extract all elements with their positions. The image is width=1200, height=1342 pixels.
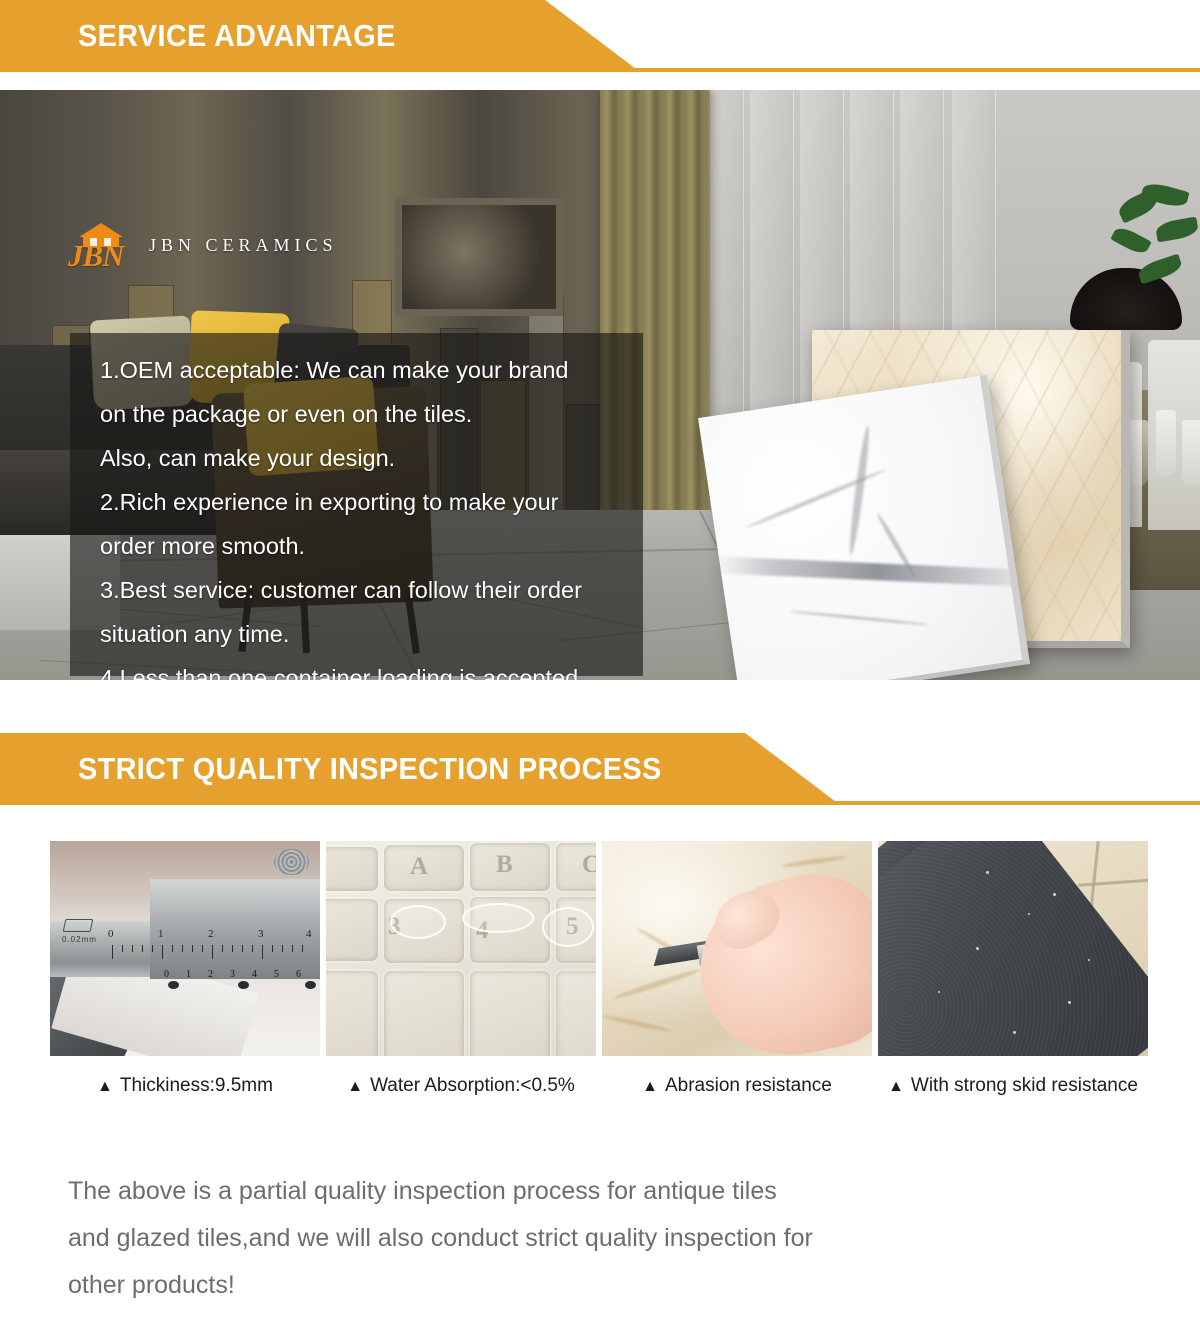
wall-art-canvas <box>402 205 556 309</box>
inspection-item: 0.02mm <box>50 841 320 1097</box>
footer-line: The above is a partial quality inspectio… <box>68 1168 1088 1215</box>
footer-line: other products! <box>68 1262 1088 1309</box>
inspection-item: ▲With strong skid resistance <box>878 841 1148 1097</box>
triangle-marker-icon: ▲ <box>347 1078 363 1095</box>
feature-line: 1.OEM acceptable: We can make your brand <box>100 348 660 392</box>
section-title-strict-quality-inspection: STRICT QUALITY INSPECTION PROCESS <box>78 733 662 805</box>
tile-speck <box>976 947 979 950</box>
caliper-thickness-image: 0.02mm <box>50 841 320 1056</box>
wine-glass <box>1182 420 1200 486</box>
logo-jbn-text: JBN <box>68 238 124 274</box>
tile-speck <box>938 991 940 993</box>
service-advantage-banner: SERVICE ADVANTAGE <box>0 0 1200 90</box>
inspection-caption: ▲Thickiness:9.5mm <box>50 1075 320 1097</box>
caliper-screw <box>305 981 316 989</box>
marble-vein <box>712 556 1029 587</box>
triangle-marker-icon: ▲ <box>888 1078 904 1095</box>
abrasion-resistance-image <box>602 841 872 1056</box>
inspection-caption: ▲Water Absorption:<0.5% <box>326 1075 596 1097</box>
caliper-vernier-number: 0 <box>164 969 169 980</box>
inspection-item: ▲Abrasion resistance <box>602 841 872 1097</box>
water-droplet <box>542 907 594 947</box>
embossed-character: A <box>410 853 428 881</box>
embossed-character: C <box>582 851 596 879</box>
banner-bar-1: SERVICE ADVANTAGE <box>0 0 1200 72</box>
feature-line: on the package or even on the tiles. <box>100 392 660 436</box>
caliper-precision-label: 0.02mm <box>62 935 97 944</box>
triangle-marker-icon: ▲ <box>97 1078 113 1095</box>
wine-glass <box>1156 410 1176 476</box>
marble-vein <box>790 610 930 626</box>
caliper-vernier-number: 2 <box>208 969 213 980</box>
feature-line: Also, can make your design. <box>100 436 660 480</box>
logo-mark: JBN <box>68 222 136 272</box>
embossed-character: B <box>496 851 513 879</box>
inspection-item: A B C 3 4 5 ▲Water Absorption:<0.5% <box>326 841 596 1097</box>
section-title-service-advantage: SERVICE ADVANTAGE <box>78 0 396 72</box>
caliper-scale-number: 2 <box>208 928 214 940</box>
product-detail-page: SERVICE ADVANTAGE <box>0 0 1200 1342</box>
tile-speck <box>1053 893 1056 896</box>
wine-glass <box>1128 420 1148 486</box>
footer-line: and glazed tiles,and we will also conduc… <box>68 1215 1088 1262</box>
inspection-caption-text: Thickiness:9.5mm <box>120 1075 273 1096</box>
caliper-vernier-number: 1 <box>186 969 191 980</box>
white-marble-tile-sample <box>698 375 1030 680</box>
tile-speck <box>986 871 989 874</box>
triangle-marker-icon: ▲ <box>642 1078 658 1095</box>
caliper-scale-number: 0 <box>108 928 114 940</box>
feature-line: 2.Rich experience in exporting to make y… <box>100 480 660 524</box>
marble-vein <box>847 425 872 555</box>
inspection-caption: ▲With strong skid resistance <box>878 1075 1148 1097</box>
inspection-items-row: 0.02mm <box>50 841 1148 1097</box>
caliper-scale-number: 3 <box>258 928 264 940</box>
plant-leaf <box>1155 216 1200 242</box>
caliper-scale-number: 1 <box>158 928 164 940</box>
grid-cell <box>326 899 378 961</box>
caliper-vernier-number: 3 <box>230 969 235 980</box>
feature-line: order more smooth. <box>100 524 660 568</box>
skid-resistance-image <box>878 841 1148 1056</box>
caliper-slider <box>150 879 320 979</box>
water-droplet <box>390 905 446 939</box>
caliper-vernier-number: 5 <box>274 969 279 980</box>
tile-speck <box>1028 913 1030 915</box>
caliper-vernier-number: 6 <box>296 969 301 980</box>
hero-banner-service-advantage: JBN JBN CERAMICS 1.OEM acceptable: We ca… <box>0 90 1200 680</box>
inspection-caption-text: Water Absorption:<0.5% <box>370 1075 575 1096</box>
feature-line: situation any time. <box>100 612 660 656</box>
potted-plant <box>1112 186 1200 316</box>
grid-cell <box>326 971 378 1056</box>
caliper-scale-number: 4 <box>306 928 312 940</box>
strict-quality-inspection-banner: STRICT QUALITY INSPECTION PROCESS <box>0 733 1200 823</box>
caliper-vernier-number: 4 <box>252 969 257 980</box>
wall-art-frame <box>395 198 563 316</box>
inspection-footer-note: The above is a partial quality inspectio… <box>68 1168 1088 1309</box>
caliper-screw <box>238 981 249 989</box>
section-spacer <box>0 680 1200 733</box>
feature-line: 3.Best service: customer can follow thei… <box>100 568 660 612</box>
plant-leaf <box>1110 224 1152 257</box>
logo-wordmark: JBN CERAMICS <box>149 235 338 259</box>
tile-speck <box>1068 1001 1071 1004</box>
water-absorption-image: A B C 3 4 5 <box>326 841 596 1056</box>
caliper-thumb-wheel <box>274 849 309 875</box>
inspection-caption: ▲Abrasion resistance <box>602 1075 872 1097</box>
inspection-caption-text: Abrasion resistance <box>665 1075 832 1096</box>
caliper-main-scale: 0 1 2 3 4 0 1 2 3 4 5 6 <box>50 945 320 963</box>
marble-vein <box>746 468 886 529</box>
water-droplet <box>462 903 534 933</box>
inspection-grid: 0.02mm <box>0 823 1200 1123</box>
caliper-brand-mark <box>63 919 94 932</box>
service-advantage-list: 1.OEM acceptable: We can make your brand… <box>100 348 660 680</box>
grid-cell <box>556 971 596 1056</box>
grid-cell <box>384 971 464 1056</box>
jbn-ceramics-logo: JBN JBN CERAMICS <box>68 222 338 272</box>
caliper-screw <box>168 981 179 989</box>
tile-speck <box>1013 1031 1016 1034</box>
grid-cell <box>470 971 550 1056</box>
plant-leaf <box>1136 254 1183 285</box>
feature-line: 4.Less than one container loading is acc… <box>100 656 660 680</box>
inspection-caption-text: With strong skid resistance <box>911 1075 1138 1096</box>
banner-bar-2: STRICT QUALITY INSPECTION PROCESS <box>0 733 1200 805</box>
tile-speck <box>1088 959 1090 961</box>
grid-cell <box>326 847 378 891</box>
